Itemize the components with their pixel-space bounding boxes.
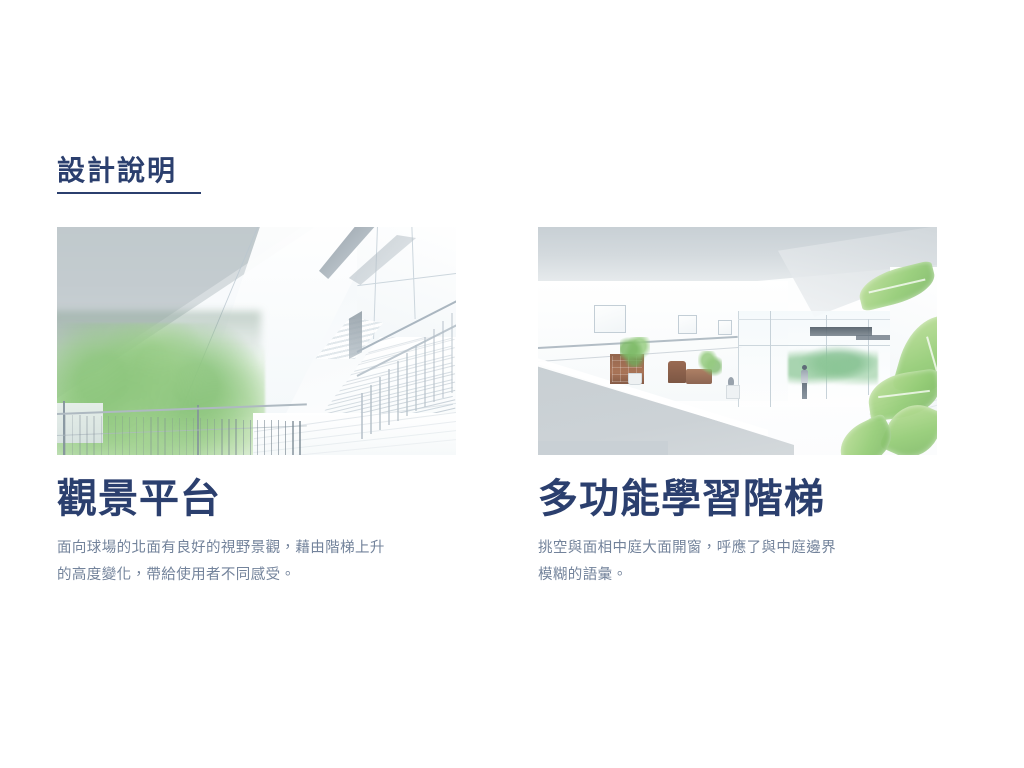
- rendering-observation-deck: [57, 227, 456, 455]
- caption-heading-learning-stair: 多功能學習階梯: [538, 477, 937, 521]
- stair-handrail: [357, 313, 456, 453]
- page-title: 設計說明: [57, 155, 177, 195]
- caption-body-observation-deck: 面向球場的北面有良好的視野景觀，藉由階梯上升的高度變化，帶給使用者不同感受。: [57, 535, 393, 589]
- caption-heading-observation-deck: 觀景平台: [57, 477, 456, 521]
- column-learning-stair: 多功能學習階梯 挑空與面相中庭大面開窗，呼應了與中庭邊界模糊的語彙。: [538, 227, 937, 589]
- plant-pot-1: [628, 373, 642, 385]
- potted-plant-2: [698, 351, 722, 377]
- wall-opening-3: [718, 320, 732, 335]
- standing-figure: [800, 365, 809, 399]
- column-observation-deck: 觀景平台 面向球場的北面有良好的視野景觀，藉由階梯上升的高度變化，帶給使用者不同…: [57, 227, 456, 589]
- glazing-mullion-1: [770, 311, 771, 407]
- rendering-learning-stair: [538, 227, 937, 455]
- wall-opening-2: [678, 315, 697, 334]
- railing-top-rail: [57, 403, 307, 415]
- glazing-transom-upper: [738, 319, 898, 320]
- figure-torso: [801, 370, 808, 384]
- slide-canvas: 設計說明: [0, 0, 1024, 768]
- armchair-1: [668, 361, 686, 383]
- floor-shadow-band: [538, 441, 668, 455]
- title-underline: [57, 192, 201, 194]
- louver-band-secondary: [856, 335, 890, 340]
- potted-plant-1: [620, 337, 650, 367]
- caption-body-learning-stair: 挑空與面相中庭大面開窗，呼應了與中庭邊界模糊的語彙。: [538, 535, 850, 589]
- content-columns: 觀景平台 面向球場的北面有良好的視野景觀，藉由階梯上升的高度變化，帶給使用者不同…: [0, 227, 1024, 627]
- figure-legs: [802, 383, 807, 399]
- floor-cube: [726, 385, 740, 399]
- wall-opening-1: [594, 305, 626, 333]
- balcony-railing: [57, 399, 307, 455]
